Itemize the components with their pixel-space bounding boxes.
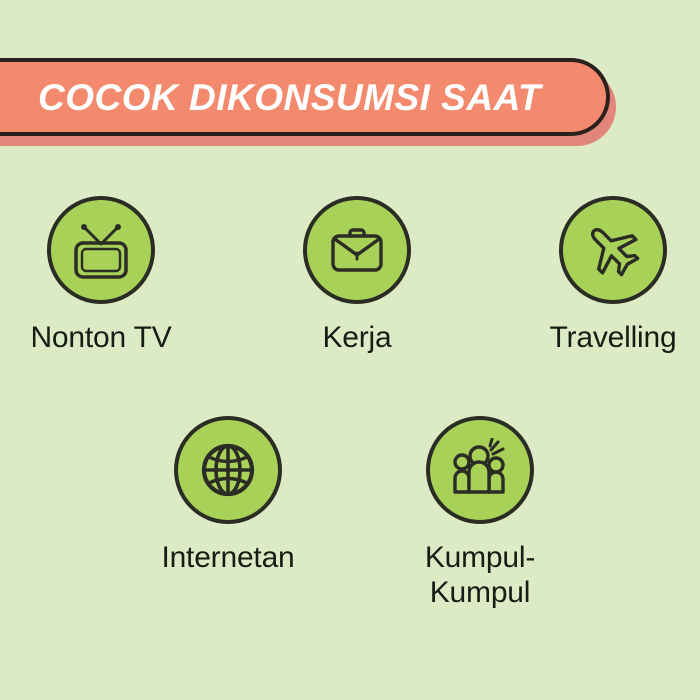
- page-title: COCOK DIKONSUMSI SAAT: [38, 79, 541, 116]
- feature-item-internetan: Internetan: [140, 416, 316, 611]
- briefcase-icon: [324, 217, 390, 283]
- feature-item-travelling: Travelling: [526, 196, 700, 355]
- feature-item-kerja: Kerja: [270, 196, 444, 355]
- icon-circle: [303, 196, 411, 304]
- people-group-icon: [448, 438, 512, 502]
- feature-item-kumpul-kumpul: Kumpul- Kumpul: [392, 416, 568, 611]
- icon-row-2: Internetan: [0, 416, 700, 611]
- icon-circle: [174, 416, 282, 524]
- feature-label: Nonton TV: [30, 320, 171, 355]
- icon-circle: [426, 416, 534, 524]
- header-banner: COCOK DIKONSUMSI SAAT: [0, 58, 610, 140]
- feature-label: Kerja: [322, 320, 391, 355]
- feature-item-nonton-tv: Nonton TV: [14, 196, 188, 355]
- icon-circle: [47, 196, 155, 304]
- tv-icon: [68, 217, 134, 283]
- globe-icon: [198, 440, 258, 500]
- banner-pill: COCOK DIKONSUMSI SAAT: [0, 58, 610, 136]
- airplane-icon: [581, 218, 645, 282]
- feature-label: Travelling: [550, 320, 677, 355]
- feature-label: Kumpul- Kumpul: [425, 540, 535, 611]
- icon-row-1: Nonton TV Kerja: [0, 196, 700, 355]
- feature-label: Internetan: [161, 540, 294, 575]
- icon-circle: [559, 196, 667, 304]
- infographic-card: COCOK DIKONSUMSI SAAT: [0, 0, 700, 700]
